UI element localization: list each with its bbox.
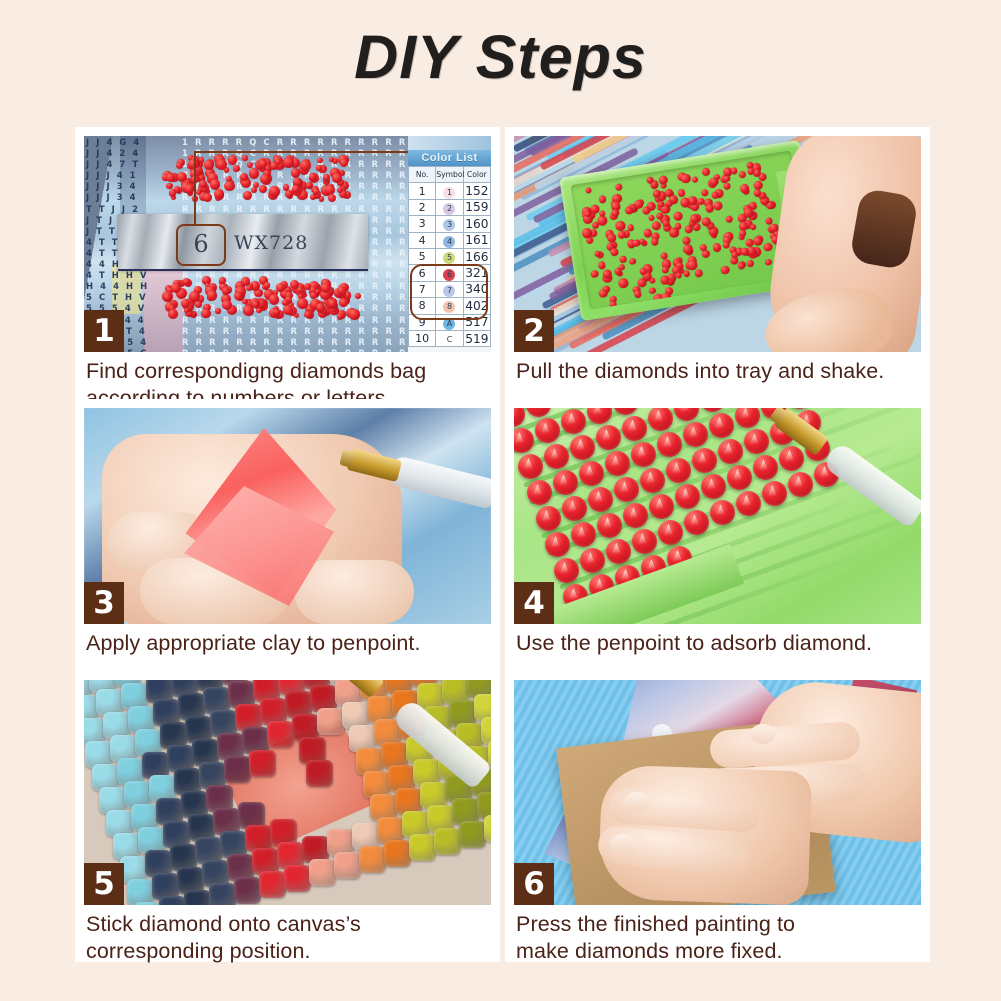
tray-diamond	[731, 167, 739, 175]
tray-diamond	[738, 170, 747, 179]
step-badge-6: 6	[514, 863, 554, 905]
tray-diamond	[590, 270, 598, 278]
loose-diamond	[273, 309, 280, 316]
tray-diamond	[610, 247, 620, 257]
loose-diamond	[306, 182, 312, 188]
loose-diamond	[340, 159, 348, 167]
loose-diamond	[316, 165, 321, 170]
loose-diamond	[224, 181, 235, 192]
tray-diamond	[597, 513, 622, 538]
placed-diamond	[159, 896, 186, 905]
color-list-color-code: 159	[463, 199, 490, 215]
tray-diamond	[570, 435, 595, 460]
placed-diamond	[334, 852, 361, 879]
tray-diamond	[702, 168, 711, 177]
loose-diamond	[269, 186, 280, 197]
loose-diamond	[243, 191, 252, 200]
loose-diamond	[216, 159, 227, 170]
tray-diamond	[622, 416, 647, 441]
loose-diamond	[234, 292, 243, 301]
placed-diamond	[224, 756, 251, 783]
tray-diamond	[718, 439, 743, 464]
tray-diamond	[561, 409, 586, 434]
tray-diamond	[658, 520, 683, 545]
tray-diamond	[625, 206, 634, 215]
loose-diamond	[337, 313, 344, 320]
tray-diamond	[712, 191, 720, 199]
loose-diamond	[355, 293, 361, 299]
color-list-table: No.SymbolColor 1115222159331604416155166…	[408, 166, 491, 347]
color-list-column-header: Symbol	[436, 167, 463, 183]
color-list-no: 2	[409, 199, 436, 215]
bag-edge-bottom	[118, 269, 368, 271]
color-list-row: 55166	[409, 248, 491, 264]
fingernail	[610, 834, 636, 854]
loose-diamond	[228, 155, 238, 165]
color-list-row: 22159	[409, 199, 491, 215]
tray-diamond	[649, 494, 674, 519]
color-list-color-code: 519	[463, 330, 490, 346]
loose-diamond	[259, 185, 267, 193]
step-card-3: 3 Apply appropriate clay to penpoint.	[75, 399, 500, 671]
tray-diamond	[597, 261, 605, 269]
loose-diamond	[283, 184, 290, 191]
tray-diamond	[723, 175, 731, 183]
bag-number-box: 6	[176, 224, 226, 266]
step-card-1: J J 4 G 4 J J 4 2 4 J J 4 7 T J J J 4 1 …	[75, 127, 500, 399]
step-3-photo: 3	[84, 408, 491, 624]
color-list-symbol: 1	[436, 183, 463, 199]
tray-diamond	[643, 228, 653, 238]
tray-diamond	[585, 187, 592, 194]
pen-gold-collar	[346, 448, 402, 482]
loose-diamond	[199, 157, 205, 163]
loose-diamond	[183, 278, 190, 285]
step-card-4: 4 Use the penpoint to adsorb diamond.	[505, 399, 930, 671]
step-badge-1: 1	[84, 310, 124, 352]
step-6-caption: Press the finished painting to make diam…	[514, 905, 921, 965]
loose-diamond	[171, 283, 181, 293]
tray-diamond	[725, 215, 733, 223]
step-badge-5: 5	[84, 863, 124, 905]
loose-diamond	[304, 311, 312, 319]
loose-diamond	[207, 290, 217, 300]
tray-diamond	[599, 289, 609, 299]
step-card-5: 5 Stick diamond onto canvas’s correspond…	[75, 671, 500, 962]
step-badge-3: 3	[84, 582, 124, 624]
loose-diamond	[203, 193, 212, 202]
tray-diamond	[677, 189, 686, 198]
tray-diamond	[619, 256, 626, 263]
tray-diamond	[658, 175, 669, 186]
tray-diamond	[651, 220, 662, 231]
tray-diamond	[684, 510, 709, 535]
caption-line-1: Pull the diamonds into tray and shake.	[516, 359, 884, 383]
tray-diamond	[675, 223, 682, 230]
step-card-2: 2 Pull the diamonds into tray and shake.	[505, 127, 930, 399]
tray-diamond	[749, 223, 756, 230]
tray-diamond	[747, 260, 755, 268]
color-list-color-code: 161	[463, 232, 490, 248]
pen-gold-collar	[330, 680, 384, 698]
tray-diamond	[709, 177, 719, 187]
tray-diamond	[661, 292, 672, 303]
tray-diamond	[598, 195, 607, 204]
step-2-photo: 2	[514, 136, 921, 352]
placed-diamond	[459, 821, 486, 848]
color-list-row: 33160	[409, 216, 491, 232]
placed-diamond	[259, 871, 286, 898]
tray-diamond	[753, 236, 763, 246]
callout-line-to-bag	[194, 151, 196, 225]
step-4-caption: Use the penpoint to adsorb diamond.	[514, 624, 921, 657]
step-badge-4: 4	[514, 582, 554, 624]
color-list-no: 1	[409, 183, 436, 199]
fingernail	[750, 724, 776, 744]
tray-diamond	[649, 287, 656, 294]
loose-diamond	[242, 299, 248, 305]
loose-diamond	[201, 309, 210, 318]
step-1-photo: J J 4 G 4 J J 4 2 4 J J 4 7 T J J J 4 1 …	[84, 136, 491, 352]
loose-diamond	[328, 194, 336, 202]
infographic-page: DIY Steps J J 4 G 4 J J 4 2 4 J J 4 7 T …	[0, 0, 1001, 1001]
tray-diamond	[666, 458, 691, 483]
tray-diamond	[673, 211, 683, 221]
tray-diamond	[712, 243, 722, 253]
loose-diamond	[317, 158, 323, 164]
tray-diamond	[694, 269, 703, 278]
tray-diamond	[609, 301, 617, 309]
step-4-photo: 4	[514, 408, 921, 624]
color-list-color-code: 152	[463, 183, 490, 199]
tray-diamond	[588, 487, 613, 512]
tray-diamond	[629, 258, 637, 266]
callout-line-horizontal	[194, 151, 408, 153]
placed-diamond	[481, 717, 491, 744]
color-list-symbol: 5	[436, 248, 463, 264]
tray-diamond	[675, 484, 700, 509]
step-card-6: e Bool 6 Press the finished painting to …	[505, 671, 930, 962]
tray-diamond	[720, 265, 729, 274]
loose-diamonds-bottom	[162, 276, 362, 320]
loose-diamond	[309, 173, 316, 180]
color-list-row: 10C519	[409, 330, 491, 346]
loose-diamond	[210, 179, 221, 190]
color-list-symbol: C	[436, 330, 463, 346]
loose-diamond	[219, 277, 226, 284]
loose-diamond	[184, 308, 189, 313]
color-list-color-code: 160	[463, 216, 490, 232]
placed-diamond	[209, 883, 236, 905]
color-list-no: 4	[409, 232, 436, 248]
caption-line-1: Apply appropriate clay to penpoint.	[86, 631, 421, 655]
loose-diamond	[214, 189, 224, 199]
loose-diamond	[233, 165, 240, 172]
step-5-caption: Stick diamond onto canvas’s correspondin…	[84, 905, 491, 965]
loose-diamond	[189, 291, 200, 302]
loose-diamond	[290, 280, 299, 289]
loose-diamond	[332, 173, 341, 182]
tray-diamond	[675, 272, 682, 279]
tray-diamond	[763, 242, 772, 251]
loose-diamond	[339, 298, 348, 307]
color-list-column-header: Color	[463, 167, 490, 183]
loose-diamond	[259, 160, 267, 168]
loose-diamond	[195, 301, 202, 308]
tray-diamond	[579, 461, 604, 486]
loose-diamond	[349, 309, 359, 319]
color-list-no: 3	[409, 216, 436, 232]
color-list-symbol: 3	[436, 216, 463, 232]
placed-diamond	[284, 865, 311, 892]
placed-diamond	[234, 877, 261, 904]
loose-diamond	[316, 303, 325, 312]
loose-diamond	[164, 294, 171, 301]
tray-diamond	[764, 258, 772, 266]
caption-line-1: Press the finished painting to	[516, 912, 795, 936]
loose-diamond	[185, 184, 194, 193]
loose-diamond	[215, 308, 220, 313]
tray-diamond	[545, 532, 570, 557]
canvas-with-symbols: J J 4 G 4 J J 4 2 4 J J 4 7 T J J J 4 1 …	[84, 136, 408, 352]
loose-diamond	[276, 283, 285, 292]
step-5-photo: 5	[84, 680, 491, 905]
tray-diamond	[615, 183, 623, 191]
tray-diamond	[606, 539, 631, 564]
tray-diamond	[723, 182, 731, 190]
placed-diamond	[134, 902, 161, 905]
loose-diamond	[204, 160, 214, 170]
tray-diamond	[640, 468, 665, 493]
tray-diamond	[709, 413, 734, 438]
tray-diamond	[640, 268, 647, 275]
loose-diamond	[241, 277, 249, 285]
color-list-top-strip	[408, 136, 491, 150]
placed-diamond	[359, 846, 386, 873]
loose-diamond	[176, 162, 183, 169]
loose-diamonds-top	[162, 154, 352, 202]
loose-diamond	[270, 162, 277, 169]
loose-diamond	[304, 283, 311, 290]
loose-diamond	[337, 187, 343, 193]
loose-diamond	[168, 309, 178, 319]
loose-diamond	[166, 173, 175, 182]
color-list-row: 11152	[409, 183, 491, 199]
tray-diamond	[536, 506, 561, 531]
loose-diamond	[310, 194, 316, 200]
loose-diamond	[269, 294, 279, 304]
tray-diamond	[618, 277, 629, 288]
tray-diamond	[681, 174, 692, 185]
tray-diamond	[701, 189, 709, 197]
caption-line-1: Use the penpoint to adsorb diamond.	[516, 631, 872, 655]
step-3-caption: Apply appropriate clay to penpoint.	[84, 624, 491, 657]
loose-diamond	[300, 160, 311, 171]
tray-diamond	[657, 432, 682, 457]
color-list-symbol: 2	[436, 199, 463, 215]
placed-diamond	[484, 815, 491, 842]
tray-diamond	[527, 480, 552, 505]
loose-diamond	[264, 282, 270, 288]
color-list-color-code: 166	[463, 248, 490, 264]
tray-diamond	[518, 454, 543, 479]
placed-diamond	[249, 750, 276, 777]
caption-line-1: Stick diamond onto canvas’s	[86, 912, 361, 936]
tray-diamond	[691, 176, 699, 184]
tray-diamond	[633, 289, 642, 298]
loose-diamond	[251, 187, 257, 193]
step-6-photo: e Bool 6	[514, 680, 921, 905]
color-list-symbol: 4	[436, 232, 463, 248]
step-2-caption: Pull the diamonds into tray and shake.	[514, 352, 921, 385]
step-badge-2: 2	[514, 310, 554, 352]
color-list-title: Color List	[408, 150, 491, 166]
fingernail	[624, 792, 650, 812]
color-list-no: 10	[409, 330, 436, 346]
finger	[294, 560, 414, 624]
tray-diamond	[554, 558, 579, 583]
callout-highlight-oval	[410, 264, 488, 320]
color-list-row: 44161	[409, 232, 491, 248]
bag-number: 6	[178, 226, 224, 262]
caption-line-2: make diamonds more fixed.	[516, 938, 919, 965]
tray-diamond	[627, 224, 634, 231]
color-list-header-row: No.SymbolColor	[409, 167, 491, 183]
caption-line-2: corresponding position.	[86, 938, 489, 965]
caption-line-1: Find correspondigng diamonds bag	[86, 359, 426, 383]
placed-diamond	[309, 859, 336, 886]
bag-code: WX728	[234, 232, 308, 254]
color-list-no: 5	[409, 248, 436, 264]
loose-diamond	[249, 168, 259, 178]
steps-grid: J J 4 G 4 J J 4 2 4 J J 4 7 T J J J 4 1 …	[75, 127, 930, 962]
placed-diamond	[184, 890, 211, 905]
loose-diamond	[256, 308, 261, 313]
loose-diamond	[242, 155, 248, 161]
loose-diamond	[283, 157, 294, 168]
loose-diamond	[329, 157, 334, 162]
tray-diamond	[713, 200, 724, 211]
color-list-column-header: No.	[409, 167, 436, 183]
tray-diamond	[631, 442, 656, 467]
page-title: DIY Steps	[0, 22, 1001, 92]
